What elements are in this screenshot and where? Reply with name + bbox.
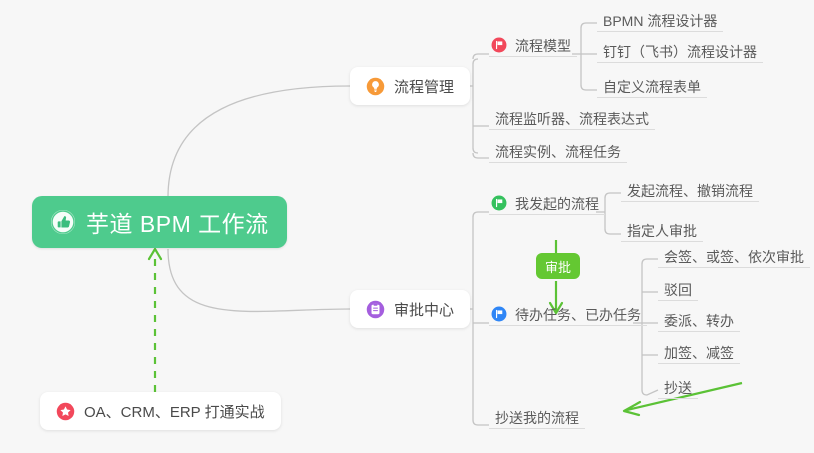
node-reject[interactable]: 驳回 (658, 277, 698, 301)
node-label-process-model: 流程模型 (515, 39, 571, 53)
node-countersign-orsign-sequential[interactable]: 会签、或签、依次审批 (658, 244, 810, 268)
flag-blue-icon (491, 306, 507, 322)
node-label-dingtalk-feishu-designer: 钉钉（飞书）流程设计器 (603, 45, 757, 59)
node-assignee-approval[interactable]: 指定人审批 (621, 218, 703, 242)
arrowhead-integration-to-root (149, 249, 161, 259)
node-custom-process-form[interactable]: 自定义流程表单 (597, 74, 707, 98)
node-label-countersign-orsign-sequential: 会签、或签、依次审批 (664, 250, 804, 264)
wire-ac-to-initiated (473, 212, 489, 217)
node-label-my-initiated-process: 我发起的流程 (515, 197, 599, 211)
wire-root-to-process-management (168, 86, 350, 197)
wire-root-to-approval-center (168, 249, 350, 311)
node-label-add-remove-sign: 加签、减签 (664, 346, 734, 360)
node-process-model[interactable]: 流程模型 (489, 33, 577, 57)
node-dingtalk-feishu-designer[interactable]: 钉钉（飞书）流程设计器 (597, 39, 763, 63)
node-label-todo-done-tasks: 待办任务、已办任务 (515, 308, 641, 322)
node-label-bpmn-designer: BPMN 流程设计器 (603, 14, 717, 28)
node-my-initiated-process[interactable]: 我发起的流程 (489, 191, 605, 215)
node-process-listener-expression[interactable]: 流程监听器、流程表达式 (489, 106, 655, 130)
node-label-delegate-transfer: 委派、转办 (664, 314, 734, 328)
wire-model-to-customform (581, 85, 597, 90)
root-label: 芋道 BPM 工作流 (86, 205, 269, 239)
annotation-integration-node[interactable]: OA、CRM、ERP 打通实战 (40, 392, 281, 430)
wire-model-to-bpmn (581, 23, 597, 28)
mindmap-canvas: 芋道 BPM 工作流 流程管理 流程模型 BPMN 流程设计器 钉钉（飞书）流程 (0, 0, 814, 453)
node-todo-done-tasks[interactable]: 待办任务、已办任务 (489, 302, 647, 326)
wire-init-to-assignee (605, 229, 621, 234)
branch-node-approval-center[interactable]: 审批中心 (350, 290, 470, 328)
node-delegate-transfer[interactable]: 委派、转办 (658, 308, 740, 332)
node-label-start-cancel-process: 发起流程、撤销流程 (627, 184, 753, 198)
wire-todo-to-cc (642, 390, 658, 395)
root-node[interactable]: 芋道 BPM 工作流 (32, 196, 287, 248)
annotation-integration-label: OA、CRM、ERP 打通实战 (84, 401, 265, 422)
annotation-approval-badge-label: 审批 (545, 257, 571, 276)
node-label-process-listener-expression: 流程监听器、流程表达式 (495, 112, 649, 126)
clipboard-icon (366, 300, 385, 319)
flag-red-icon (491, 37, 507, 53)
arrowhead-cc-to-ccme (624, 402, 640, 415)
wire-todo-to-countersign (642, 259, 658, 264)
lightbulb-icon (366, 77, 385, 96)
wire-ac-to-ccme (473, 420, 489, 425)
node-label-cc: 抄送 (664, 381, 692, 395)
node-cc[interactable]: 抄送 (658, 375, 698, 399)
thumbs-up-icon (50, 209, 76, 235)
node-label-reject: 驳回 (664, 283, 692, 297)
branch-label-approval-center: 审批中心 (394, 299, 454, 320)
wire-pm-to-model (473, 54, 489, 59)
node-add-remove-sign[interactable]: 加签、减签 (658, 340, 740, 364)
wire-pm-to-instance (473, 153, 489, 158)
branch-label-process-management: 流程管理 (394, 76, 454, 97)
node-label-assignee-approval: 指定人审批 (627, 224, 697, 238)
flag-green-icon (491, 195, 507, 211)
node-bpmn-designer[interactable]: BPMN 流程设计器 (597, 8, 723, 32)
node-label-process-instance-task: 流程实例、流程任务 (495, 145, 621, 159)
wire-init-to-start (605, 193, 621, 198)
branch-node-process-management[interactable]: 流程管理 (350, 67, 470, 105)
star-icon (56, 402, 75, 421)
annotation-approval-badge: 审批 (536, 253, 580, 279)
node-label-custom-process-form: 自定义流程表单 (603, 80, 701, 94)
node-cc-to-me-process[interactable]: 抄送我的流程 (489, 405, 585, 429)
node-start-cancel-process[interactable]: 发起流程、撤销流程 (621, 178, 759, 202)
node-process-instance-task[interactable]: 流程实例、流程任务 (489, 139, 627, 163)
node-label-cc-to-me-process: 抄送我的流程 (495, 411, 579, 425)
